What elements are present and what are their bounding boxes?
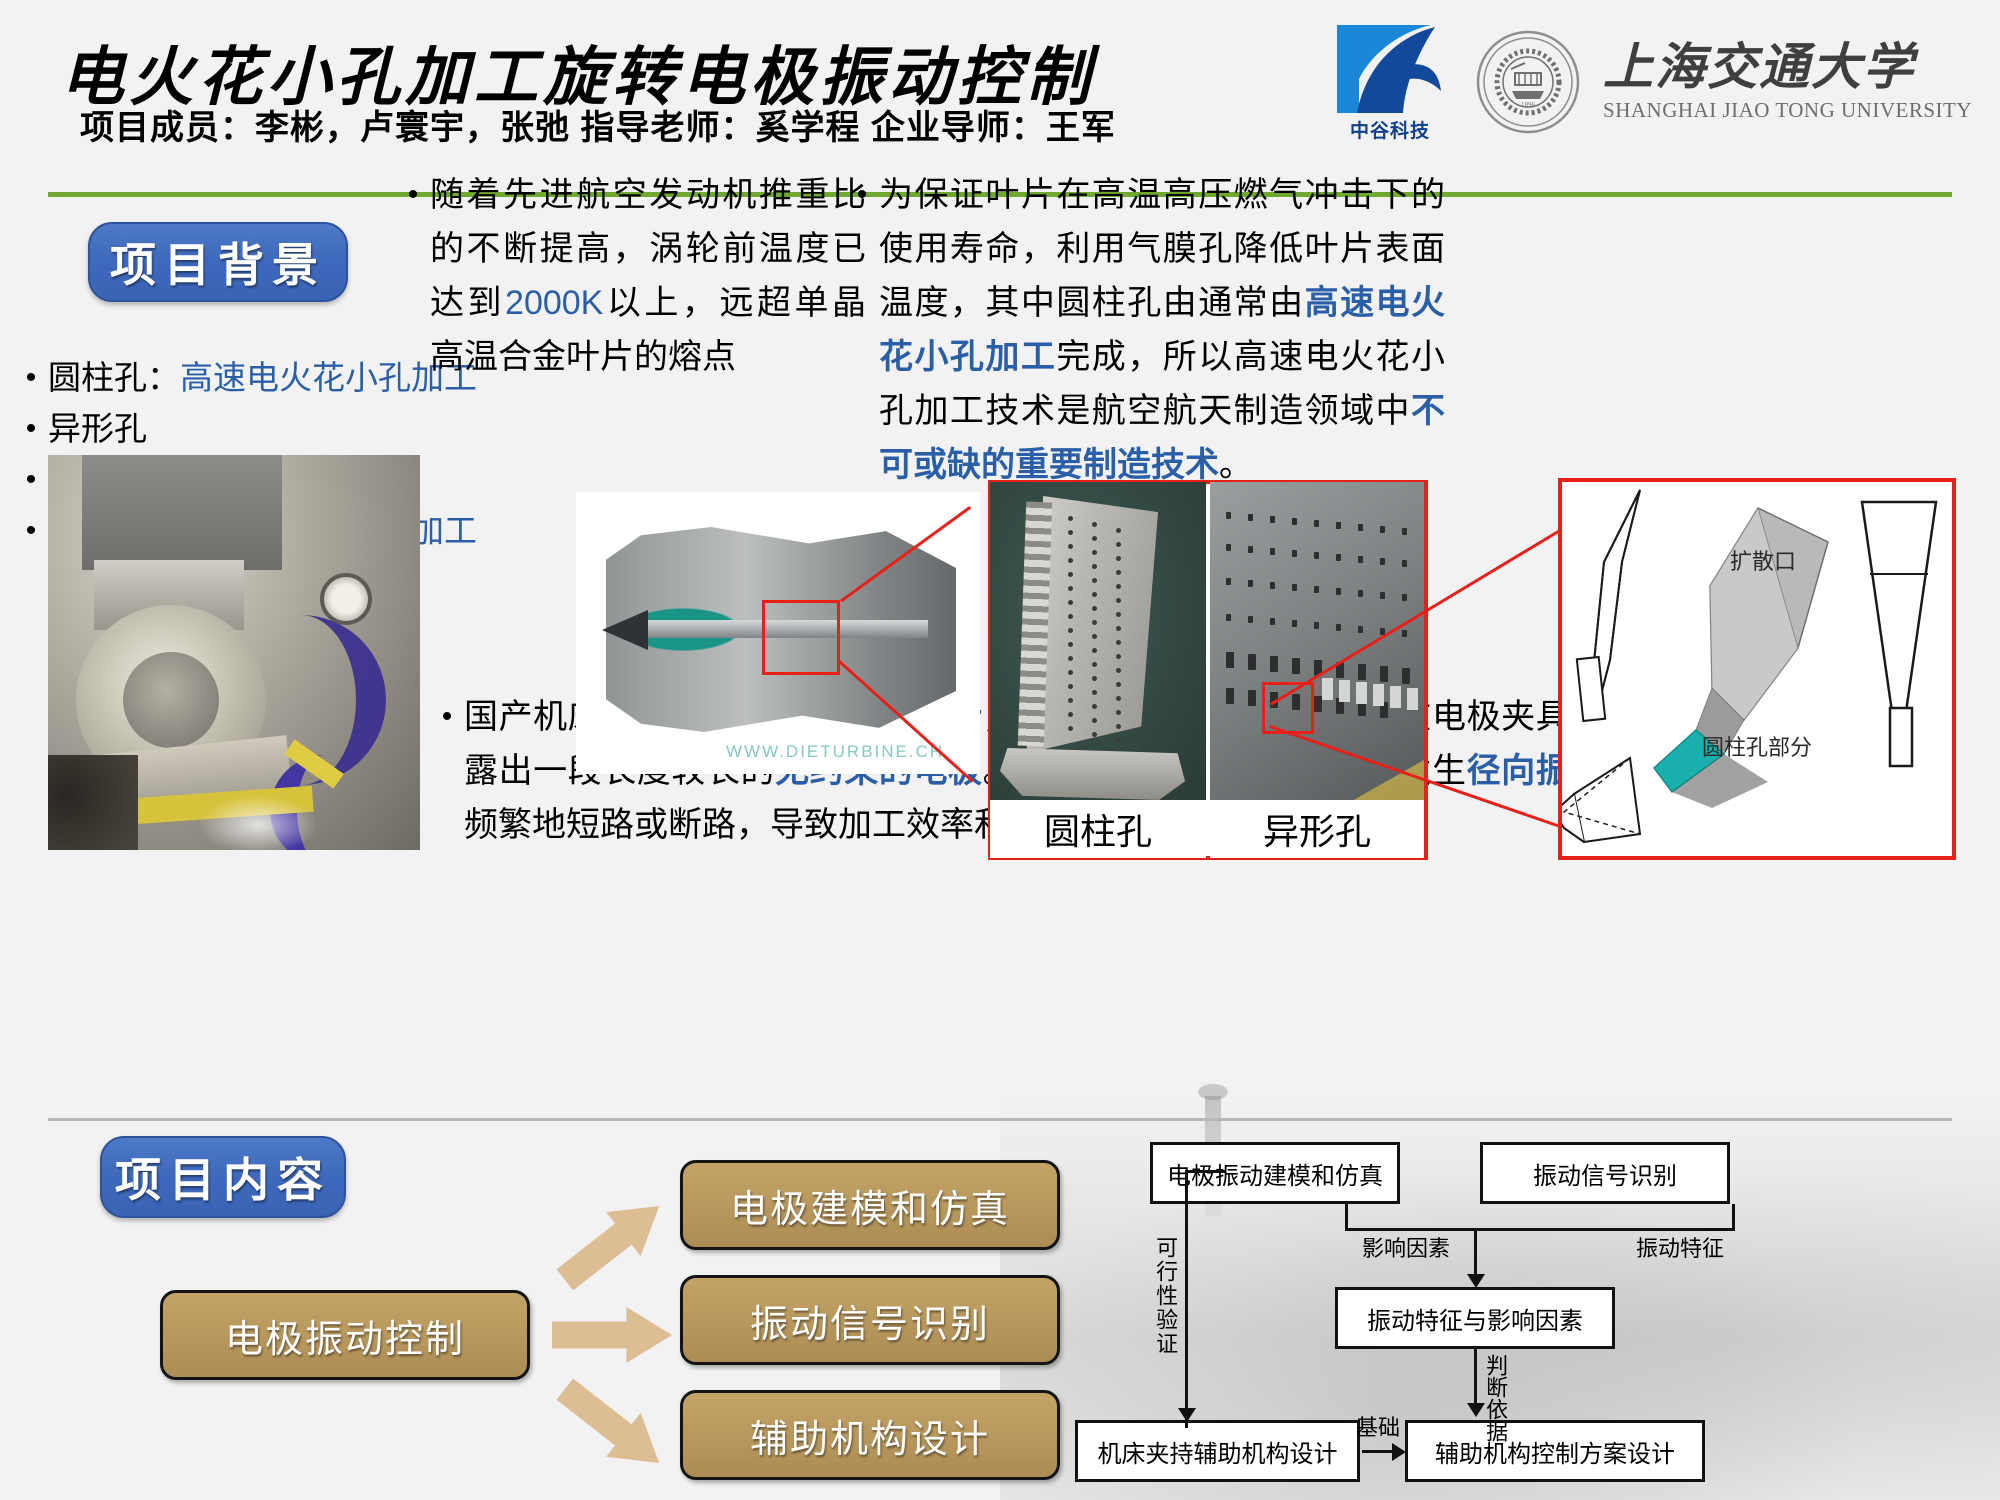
shaped-hole-icon bbox=[1248, 654, 1256, 670]
hole-dot-icon bbox=[1116, 528, 1121, 533]
hole-dot-icon bbox=[1092, 536, 1097, 541]
shaped-hole-icon bbox=[1402, 560, 1407, 567]
section-heading-content: 项目内容 bbox=[100, 1136, 346, 1218]
diagram-label-diffuser: 扩散口 bbox=[1730, 544, 1796, 576]
figure-caption: 圆柱孔 bbox=[990, 800, 1206, 858]
hole-dot-icon bbox=[1068, 544, 1073, 549]
shaped-hole-icon bbox=[1270, 618, 1275, 625]
hole-dot-icon bbox=[1092, 648, 1097, 653]
shaped-hole-slot-icon bbox=[1373, 684, 1384, 706]
shaped-hole-icon bbox=[1314, 520, 1319, 527]
shaped-hole-icon bbox=[1358, 626, 1363, 633]
shaped-hole-icon bbox=[1248, 514, 1253, 521]
flow-edge bbox=[1474, 1228, 1477, 1278]
shaped-hole-icon bbox=[1270, 656, 1278, 672]
shaped-hole-icon bbox=[1292, 658, 1300, 674]
content-branch-box: 电极建模和仿真 bbox=[680, 1160, 1060, 1250]
flow-box-fixture: 机床夹持辅助机构设计 bbox=[1075, 1420, 1360, 1482]
list-item-key: 异形孔 bbox=[48, 406, 147, 452]
hole-dot-icon bbox=[1092, 550, 1097, 555]
hole-dot-icon bbox=[1092, 522, 1097, 527]
hole-dot-icon bbox=[1068, 572, 1073, 577]
hole-dot-icon bbox=[1092, 690, 1097, 695]
research-flowchart: 电极振动建模和仿真 振动信号识别 振动特征与影响因素 机床夹持辅助机构设计 辅助… bbox=[1080, 1140, 1980, 1500]
flow-label-criteria: 判断依据 bbox=[1484, 1354, 1507, 1442]
shaped-hole-icon bbox=[1292, 620, 1297, 627]
poster-header: 电火花小孔加工旋转电极振动控制 项目成员：李彬，卢寰宇，张弛 指导老师：奚学程 … bbox=[0, 0, 2000, 196]
shaped-hole-icon bbox=[1402, 668, 1410, 684]
bullet-dot-icon: • bbox=[14, 508, 48, 554]
shaped-hole-icon bbox=[1358, 664, 1366, 680]
flow-edge bbox=[1345, 1228, 1735, 1231]
bullet-dot-icon: • bbox=[14, 355, 48, 401]
flow-label-feasibility: 可行性验证 bbox=[1154, 1236, 1177, 1356]
shaped-hole-icon bbox=[1226, 652, 1234, 668]
author-line: 项目成员：李彬，卢寰宇，张弛 指导老师：奚学程 企业导师：王军 bbox=[80, 100, 1116, 149]
flow-label-vibration: 振动特征 bbox=[1636, 1237, 1724, 1260]
shaped-hole-icon bbox=[1292, 550, 1297, 557]
hole-dot-icon bbox=[1068, 726, 1073, 731]
list-item: • 异形孔 bbox=[14, 406, 554, 452]
bullet-dot-icon: • bbox=[14, 406, 48, 452]
engine-image-watermark: WWW.DIETURBINE.CH bbox=[726, 742, 944, 762]
hole-dot-icon bbox=[1068, 558, 1073, 563]
hole-dot-icon bbox=[1068, 698, 1073, 703]
shaped-hole-icon bbox=[1226, 544, 1231, 551]
flow-arrowhead-icon bbox=[1392, 1443, 1406, 1461]
paragraph-run: 2000K bbox=[505, 284, 603, 322]
shaped-hole-icon bbox=[1314, 696, 1322, 712]
shaped-hole-icon bbox=[1248, 546, 1253, 553]
hole-dot-icon bbox=[1092, 578, 1097, 583]
shaped-hole-icon bbox=[1402, 594, 1407, 601]
svg-text:1896: 1896 bbox=[1521, 101, 1536, 109]
diagram-label-cylinder: 圆柱孔部分 bbox=[1702, 730, 1812, 762]
shaped-hole-icon bbox=[1336, 624, 1341, 631]
shaped-hole-icon bbox=[1226, 688, 1234, 704]
shaped-hole-slot-icon bbox=[1322, 678, 1333, 700]
shaped-hole-slot-icon bbox=[1390, 686, 1401, 708]
shaped-hole-icon bbox=[1336, 522, 1341, 529]
hole-dot-icon bbox=[1068, 600, 1073, 605]
cylindrical-hole-panel: 圆柱孔 bbox=[990, 482, 1206, 858]
hole-dot-icon bbox=[1068, 586, 1073, 591]
shaped-hole-icon bbox=[1358, 590, 1363, 597]
background-paragraph-1: • 随着先进航空发动机推重比的不断提高，涡轮前温度已达到2000K以上，远超单晶… bbox=[396, 168, 866, 384]
shaped-hole-icon bbox=[1270, 548, 1275, 555]
hole-dot-icon bbox=[1116, 724, 1121, 729]
shaped-hole-icon bbox=[1226, 578, 1231, 585]
engine-zoom-box bbox=[762, 600, 840, 675]
hole-dot-icon bbox=[1116, 640, 1121, 645]
shaped-hole-slot-icon bbox=[1407, 688, 1418, 710]
paragraph-text: 随着先进航空发动机推重比的不断提高，涡轮前温度已达到2000K以上，远超单晶高温… bbox=[430, 168, 866, 384]
hole-dot-icon bbox=[1116, 654, 1121, 659]
shaped-hole-icon bbox=[1270, 582, 1275, 589]
hole-dot-icon bbox=[1092, 592, 1097, 597]
hole-dot-icon bbox=[1092, 620, 1097, 625]
flow-edge bbox=[1345, 1204, 1348, 1230]
arrow-up-icon bbox=[547, 1184, 676, 1302]
hole-dot-icon bbox=[1068, 684, 1073, 689]
hole-dot-icon bbox=[1092, 718, 1097, 723]
sjtu-wordmark: 上海交通大学 SHANGHAI JIAO TONG UNIVERSITY bbox=[1603, 41, 1972, 123]
shaped-hole-photo bbox=[1210, 482, 1424, 800]
shaped-hole-icon bbox=[1248, 690, 1256, 706]
hole-geometry-diagram: 扩散口 圆柱孔部分 bbox=[1562, 482, 1952, 856]
shaped-hole-icon bbox=[1380, 526, 1385, 533]
zhonggu-logo: 中谷科技 bbox=[1333, 21, 1453, 143]
hole-dot-icon bbox=[1068, 530, 1073, 535]
cylindrical-hole-photo bbox=[990, 482, 1206, 800]
hole-dot-icon bbox=[1068, 712, 1073, 717]
hole-dot-icon bbox=[1068, 516, 1073, 521]
hole-dot-icon bbox=[1116, 612, 1121, 617]
hole-dot-icon bbox=[1116, 710, 1121, 715]
shaped-hole-icon bbox=[1226, 614, 1231, 621]
hole-dot-icon bbox=[1116, 598, 1121, 603]
shaped-hole-panel: 异形孔 bbox=[1210, 482, 1424, 858]
shaped-hole-icon bbox=[1358, 556, 1363, 563]
shaped-hole-slot-icon bbox=[1356, 682, 1367, 704]
paragraph-text: 为保证叶片在高温高压燃气冲击下的使用寿命，利用气膜孔降低叶片表面温度，其中圆柱孔… bbox=[879, 168, 1445, 492]
flow-arrowhead-icon bbox=[1178, 1408, 1196, 1422]
bullet-dot-icon: • bbox=[845, 168, 879, 492]
content-main-box: 电极振动控制 bbox=[160, 1290, 530, 1380]
shaped-hole-slot-icon bbox=[1339, 680, 1350, 702]
flow-edge bbox=[1185, 1170, 1225, 1173]
flow-edge bbox=[1185, 1170, 1188, 1428]
paragraph-run: 。 bbox=[1219, 446, 1253, 484]
hole-dot-icon bbox=[1116, 696, 1121, 701]
zhonggu-logo-text: 中谷科技 bbox=[1333, 116, 1447, 143]
flow-label-basis: 基础 bbox=[1356, 1416, 1400, 1439]
shaped-hole-icon bbox=[1270, 516, 1275, 523]
shaped-hole-icon bbox=[1248, 580, 1253, 587]
shaped-hole-icon bbox=[1380, 592, 1385, 599]
shaped-hole-icon bbox=[1292, 584, 1297, 591]
hole-dot-icon bbox=[1116, 556, 1121, 561]
flow-box-feature: 振动特征与影响因素 bbox=[1335, 1287, 1615, 1349]
list-item-key: 圆柱孔： bbox=[48, 355, 180, 401]
shaped-hole-icon bbox=[1402, 528, 1407, 535]
flow-edge bbox=[1474, 1349, 1477, 1407]
hole-dot-icon bbox=[1092, 732, 1097, 737]
hole-dot-icon bbox=[1092, 662, 1097, 667]
zhonggu-mark-icon bbox=[1333, 21, 1447, 117]
shaped-hole-icon bbox=[1380, 558, 1385, 565]
hole-dot-icon bbox=[1116, 668, 1121, 673]
shaped-hole-icon bbox=[1402, 630, 1407, 637]
hole-dot-icon bbox=[1068, 628, 1073, 633]
shaped-hole-icon bbox=[1292, 518, 1297, 525]
shaped-hole-icon bbox=[1336, 554, 1341, 561]
flow-edge bbox=[1732, 1204, 1735, 1230]
logo-group: 中谷科技 1896 上海交通大学 SHANGHAI JIAO TONG UN bbox=[1333, 22, 1972, 142]
hole-dot-icon bbox=[1068, 642, 1073, 647]
poster-root: 电火花小孔加工旋转电极振动控制 项目成员：李彬，卢寰宇，张弛 指导老师：奚学程 … bbox=[0, 0, 2000, 1500]
shaped-hole-icon bbox=[1248, 616, 1253, 623]
bullet-dot-icon: • bbox=[14, 457, 48, 503]
hole-dot-icon bbox=[1092, 676, 1097, 681]
flow-label-influence: 影响因素 bbox=[1362, 1237, 1450, 1260]
edm-machining-photo bbox=[48, 455, 420, 850]
sjtu-name-cn: 上海交通大学 bbox=[1603, 41, 1972, 94]
hole-dot-icon bbox=[1116, 682, 1121, 687]
figure-caption: 异形孔 bbox=[1210, 800, 1424, 858]
arrow-down-icon bbox=[547, 1367, 676, 1485]
shaped-hole-icon bbox=[1314, 622, 1319, 629]
background-paragraph-2: • 为保证叶片在高温高压燃气冲击下的使用寿命，利用气膜孔降低叶片表面温度，其中圆… bbox=[845, 168, 1445, 492]
content-branch-box: 辅助机构设计 bbox=[680, 1390, 1060, 1480]
bullet-dot-icon: • bbox=[396, 168, 430, 384]
hole-dot-icon bbox=[1068, 614, 1073, 619]
section-divider bbox=[48, 1118, 1952, 1121]
hole-geometry-diagram-frame: 扩散口 圆柱孔部分 bbox=[1558, 478, 1956, 860]
hole-dot-icon bbox=[1116, 570, 1121, 575]
shaped-hole-icon bbox=[1336, 588, 1341, 595]
shaped-hole-icon bbox=[1358, 524, 1363, 531]
shaped-hole-icon bbox=[1226, 512, 1231, 519]
shaped-hole-icon bbox=[1380, 666, 1388, 682]
hole-dot-icon bbox=[1068, 656, 1073, 661]
hole-dot-icon bbox=[1116, 584, 1121, 589]
hole-dot-icon bbox=[1092, 704, 1097, 709]
hole-dot-icon bbox=[1116, 626, 1121, 631]
hole-dot-icon bbox=[1068, 670, 1073, 675]
hole-dot-icon bbox=[1116, 542, 1121, 547]
hole-dot-icon bbox=[1092, 606, 1097, 611]
section-heading-background: 项目背景 bbox=[88, 222, 348, 302]
shaped-hole-icon bbox=[1314, 586, 1319, 593]
flow-box-signal: 振动信号识别 bbox=[1480, 1142, 1730, 1204]
arrow-right-icon bbox=[552, 1307, 672, 1363]
hole-dot-icon bbox=[1092, 634, 1097, 639]
bullet-dot-icon: • bbox=[430, 690, 464, 852]
flow-box-control: 辅助机构控制方案设计 bbox=[1405, 1420, 1705, 1482]
sjtu-name-en: SHANGHAI JIAO TONG UNIVERSITY bbox=[1603, 98, 1972, 123]
hole-dot-icon bbox=[1092, 564, 1097, 569]
flow-edge bbox=[1362, 1450, 1394, 1453]
hole-dot-icon bbox=[1116, 738, 1121, 743]
flow-arrowhead-icon bbox=[1467, 1274, 1485, 1288]
shaped-hole-icon bbox=[1314, 552, 1319, 559]
content-branch-box: 振动信号识别 bbox=[680, 1275, 1060, 1365]
sjtu-seal-icon: 1896 bbox=[1475, 29, 1581, 135]
